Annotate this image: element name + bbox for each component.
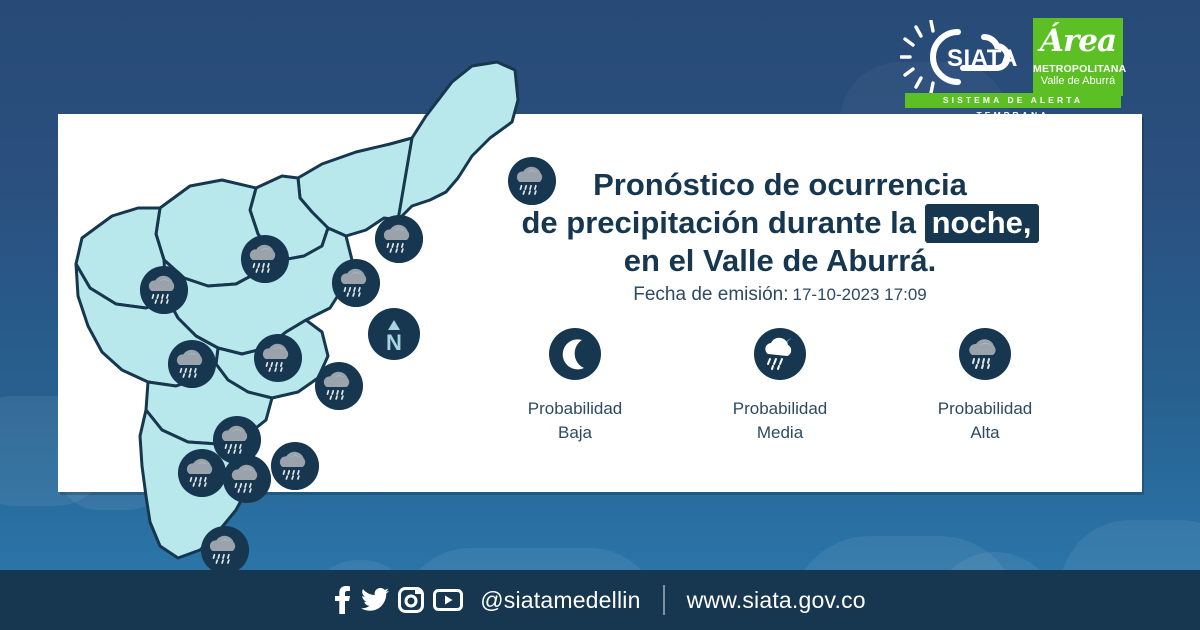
svg-text:SIATA: SIATA xyxy=(947,45,1018,72)
cloud-heavy-rain-icon xyxy=(200,525,250,575)
twitter-icon[interactable] xyxy=(361,588,389,612)
legend-label-medium-2: Media xyxy=(685,421,875,445)
footer-bar: @siatamedellin www.siata.gov.co xyxy=(0,570,1200,630)
cloud-heavy-rain-icon xyxy=(139,265,189,315)
cloud-heavy-rain-icon xyxy=(507,156,557,206)
compass-icon: N xyxy=(368,308,420,360)
siata-tagline: SISTEMA DE ALERTA TEMPRANA xyxy=(905,93,1121,108)
emission-date-label: Fecha de emisión: xyxy=(633,284,788,305)
cloud-moon-rain-icon xyxy=(754,328,806,380)
cloud-heavy-rain-icon xyxy=(240,234,290,284)
cloud-heavy-rain-icon xyxy=(167,339,217,389)
title-line-2-text: de precipitación durante la xyxy=(521,205,915,240)
marker-south-mid[interactable] xyxy=(222,454,272,504)
cloud-heavy-rain-icon xyxy=(374,214,424,264)
legend-item-high: Probabilidad Alta xyxy=(890,328,1080,445)
cloud-heavy-rain-icon xyxy=(253,333,303,383)
area-logo-line2: Valle de Aburrá xyxy=(1033,75,1123,88)
marker-west-upper[interactable] xyxy=(139,265,189,315)
marker-east-central[interactable] xyxy=(314,361,364,411)
cloud-heavy-rain-icon xyxy=(222,454,272,504)
legend-label-medium-1: Probabilidad xyxy=(685,397,875,421)
website-url[interactable]: www.siata.gov.co xyxy=(687,587,866,614)
youtube-icon[interactable] xyxy=(433,589,463,611)
area-logo-script: Área xyxy=(1033,18,1123,64)
moon-icon xyxy=(549,328,601,380)
legend: Probabilidad Baja Probabilidad Media xyxy=(480,328,1080,445)
marker-north-central[interactable] xyxy=(374,214,424,264)
marker-north-west[interactable] xyxy=(240,234,290,284)
area-logo-line1: METROPOLITANA xyxy=(1033,64,1123,75)
marker-west-mid[interactable] xyxy=(167,339,217,389)
title-line-2: de precipitación durante la noche, xyxy=(470,204,1090,242)
title-line-1: Pronóstico de ocurrencia xyxy=(470,166,1090,204)
infographic-root: SIATA Área METROPOLITANA Valle de Aburrá… xyxy=(0,0,1200,630)
instagram-icon[interactable] xyxy=(398,587,424,613)
valle-de-aburra-map: N xyxy=(60,60,520,570)
cloud-heavy-rain-icon xyxy=(331,258,381,308)
legend-item-medium: Probabilidad Media xyxy=(685,328,875,445)
title-line-3: en el Valle de Aburrá. xyxy=(470,242,1090,280)
siata-logo-icon: SIATA xyxy=(900,20,1030,94)
cloud-heavy-rain-icon xyxy=(314,361,364,411)
cloud-heavy-rain-icon xyxy=(177,448,227,498)
social-handle[interactable]: @siatamedellin xyxy=(480,587,640,614)
marker-center-north[interactable] xyxy=(331,258,381,308)
marker-far-south[interactable] xyxy=(200,525,250,575)
svg-text:N: N xyxy=(386,330,402,355)
page-title: Pronóstico de ocurrencia de precipitació… xyxy=(470,166,1090,280)
title-highlight-noche: noche, xyxy=(925,204,1039,243)
compass-north: N xyxy=(368,308,420,360)
facebook-icon[interactable] xyxy=(334,586,352,614)
legend-label-high-2: Alta xyxy=(890,421,1080,445)
legend-label-high-1: Probabilidad xyxy=(890,397,1080,421)
marker-south-east[interactable] xyxy=(270,441,320,491)
map-polygons xyxy=(60,60,520,570)
marker-north[interactable] xyxy=(507,156,557,206)
marker-central[interactable] xyxy=(253,333,303,383)
emission-date-value: 17-10-2023 17:09 xyxy=(793,285,927,304)
footer-divider xyxy=(663,585,665,615)
social-links: @siatamedellin xyxy=(334,586,640,614)
cloud-heavy-rain-icon xyxy=(959,328,1011,380)
emission-date: Fecha de emisión:17-10-2023 17:09 xyxy=(470,284,1090,306)
area-metropolitana-logo: Área METROPOLITANA Valle de Aburrá xyxy=(1033,18,1123,96)
marker-south-west[interactable] xyxy=(177,448,227,498)
cloud-heavy-rain-icon xyxy=(270,441,320,491)
